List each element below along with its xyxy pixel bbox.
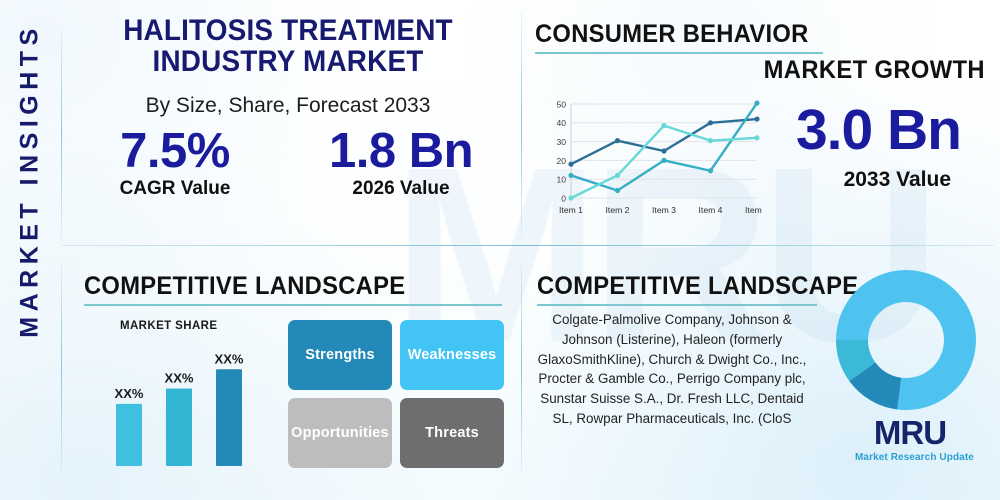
competitive-right-underline xyxy=(537,304,817,306)
competitive-landscape-left-panel: COMPETITIVE LANDSCAPE MARKET SHARE XX%XX… xyxy=(62,258,514,496)
competitive-left-underline xyxy=(84,304,502,306)
consumer-behavior-underline xyxy=(535,52,823,54)
stat-cagr: 7.5% CAGR Value xyxy=(62,126,288,200)
mru-logo-mark: MRU xyxy=(874,416,946,449)
donut-chart-svg xyxy=(830,264,982,416)
stat-2026: 1.8 Bn 2026 Value xyxy=(288,126,514,200)
stat-cagr-label: CAGR Value xyxy=(62,178,288,200)
svg-text:50: 50 xyxy=(556,99,566,109)
consumer-behavior-line-chart: 01020304050Item 1Item 2Item 3Item 4Item … xyxy=(543,94,763,224)
svg-text:30: 30 xyxy=(556,137,566,147)
bar-chart-svg: XX%XX%XX% xyxy=(102,318,282,470)
svg-text:10: 10 xyxy=(556,175,566,185)
stat-row: 7.5% CAGR Value 1.8 Bn 2026 Value xyxy=(62,126,514,200)
swot-label: Strengths xyxy=(305,347,374,363)
page-title: HALITOSIS TREATMENT INDUSTRY MARKET xyxy=(78,16,498,78)
stat-2026-value: 1.8 Bn xyxy=(288,126,514,177)
svg-text:20: 20 xyxy=(556,156,566,166)
center-divider-top xyxy=(521,12,522,238)
competitive-landscape-right-panel: COMPETITIVE LANDSCAPE Colgate-Palmolive … xyxy=(525,258,995,496)
svg-text:XX%: XX% xyxy=(165,370,194,385)
consumer-behavior-panel: CONSUMER BEHAVIOR MARKET GROWTH 3.0 Bn 2… xyxy=(525,6,995,238)
consumer-behavior-heading: CONSUMER BEHAVIOR xyxy=(535,20,809,49)
market-share-bar-chart: XX%XX%XX% xyxy=(102,318,282,470)
market-share-donut-chart xyxy=(830,264,982,416)
center-divider-bottom xyxy=(521,262,522,474)
swot-cell-threats[interactable]: Threats xyxy=(400,398,504,468)
mru-logo-tagline: Market Research Update xyxy=(855,452,965,463)
competitive-left-heading: COMPETITIVE LANDSCAPE xyxy=(84,272,481,301)
market-insights-vertical-label: MARKET INSIGHTS xyxy=(16,0,45,381)
market-growth-value: 3.0 Bn xyxy=(796,102,961,159)
swot-cell-weaknesses[interactable]: Weaknesses xyxy=(400,320,504,390)
company-list: Colgate-Palmolive Company, Johnson & Joh… xyxy=(529,310,815,429)
page-subtitle: By Size, Share, Forecast 2033 xyxy=(62,94,514,118)
stat-2026-label: 2026 Value xyxy=(288,178,514,200)
left-rail: MARKET INSIGHTS xyxy=(0,0,62,500)
svg-text:40: 40 xyxy=(556,118,566,128)
swot-cell-strengths[interactable]: Strengths xyxy=(288,320,392,390)
stat-cagr-value: 7.5% xyxy=(62,126,288,177)
svg-text:Item 5: Item 5 xyxy=(745,205,763,215)
title-panel: HALITOSIS TREATMENT INDUSTRY MARKET By S… xyxy=(62,6,514,238)
swot-label: Weaknesses xyxy=(408,347,497,363)
svg-text:0: 0 xyxy=(561,193,566,203)
infographic-root: MRU MARKET INSIGHTS HALITOSIS TREATMENT … xyxy=(0,0,1000,500)
svg-text:Item 4: Item 4 xyxy=(699,205,723,215)
svg-text:Item 2: Item 2 xyxy=(606,205,630,215)
competitive-right-heading: COMPETITIVE LANDSCAPE xyxy=(537,272,803,301)
market-growth-label: 2033 Value xyxy=(844,168,951,192)
svg-text:XX%: XX% xyxy=(115,386,144,401)
svg-text:Item 1: Item 1 xyxy=(559,205,583,215)
svg-text:XX%: XX% xyxy=(215,351,244,366)
swot-cell-opportunities[interactable]: Opportunities xyxy=(288,398,392,468)
line-chart-svg: 01020304050Item 1Item 2Item 3Item 4Item … xyxy=(543,94,763,224)
swot-label: Threats xyxy=(425,425,479,441)
mru-logo: MRU Market Research Update xyxy=(855,416,965,463)
svg-text:Item 3: Item 3 xyxy=(652,205,676,215)
swot-label: Opportunities xyxy=(291,425,389,441)
horizontal-divider xyxy=(62,245,994,246)
market-growth-heading: MARKET GROWTH xyxy=(764,56,985,85)
swot-grid: StrengthsWeaknessesOpportunitiesThreats xyxy=(288,320,504,468)
